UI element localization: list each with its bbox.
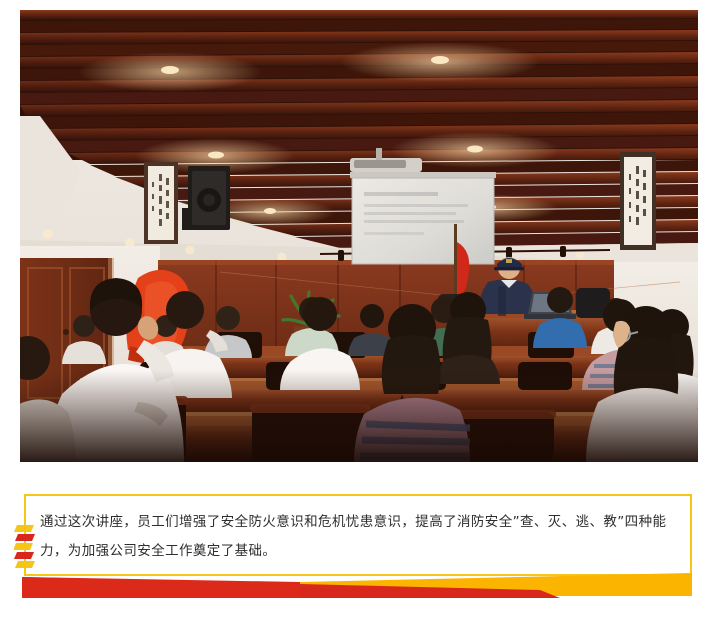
zigzag-arrow-marker (14, 524, 38, 570)
caption-text: 通过这次讲座，员工们增强了安全防火意识和危机忧患意识，提高了消防安全”查、灭、逃… (40, 508, 680, 566)
zigzag-icon (14, 524, 38, 570)
conference-room-photo (20, 10, 698, 462)
bottom-ribbon (0, 568, 722, 608)
photo-illustration (20, 10, 698, 462)
caption-box: 通过这次讲座，员工们增强了安全防火意识和危机忧患意识，提高了消防安全”查、灭、逃… (24, 494, 692, 576)
ribbon-shape (0, 568, 722, 608)
article-page: 通过这次讲座，员工们增强了安全防火意识和危机忧患意识，提高了消防安全”查、灭、逃… (0, 0, 722, 624)
